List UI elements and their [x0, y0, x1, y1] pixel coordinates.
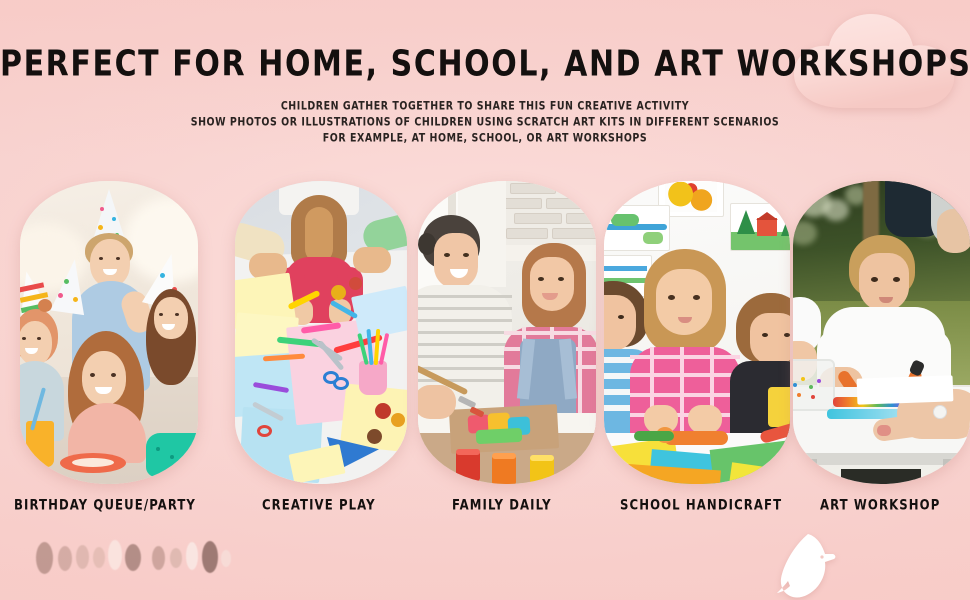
scenario-card-school-handicraft[interactable]: [604, 181, 790, 484]
scenario-card-creative-play[interactable]: [235, 181, 407, 484]
photo-school-handicraft: [604, 181, 790, 484]
caption-birthday: BIRTHDAY QUEUE/PARTY: [14, 497, 196, 514]
promo-banner: PERFECT FOR HOME, SCHOOL, AND ART WORKSH…: [0, 0, 970, 600]
scenario-card-birthday[interactable]: [20, 181, 198, 484]
subtitle-line-3: FOR EXAMPLE, AT HOME, SCHOOL, OR ART WOR…: [0, 129, 970, 147]
heading-block: PERFECT FOR HOME, SCHOOL, AND ART WORKSH…: [0, 46, 970, 78]
page-title: PERFECT FOR HOME, SCHOOL, AND ART WORKSH…: [0, 46, 970, 83]
caption-school-handicraft: SCHOOL HANDICRAFT: [620, 497, 782, 514]
dove-icon: [770, 530, 842, 600]
photo-birthday-party: [20, 181, 198, 484]
photo-creative-play: [235, 181, 407, 484]
caption-family-daily: FAMILY DAILY: [452, 497, 552, 514]
caption-creative-play: CREATIVE PLAY: [262, 497, 376, 514]
subtitle-block: CHILDREN GATHER TOGETHER TO SHARE THIS F…: [0, 98, 970, 146]
scenario-card-family-daily[interactable]: [418, 181, 596, 484]
scenario-card-row: [0, 181, 970, 484]
scenario-card-art-workshop[interactable]: [793, 181, 970, 484]
crayon-dots-decoration: [34, 538, 234, 580]
photo-family-daily: [418, 181, 596, 484]
photo-art-workshop: [793, 181, 970, 484]
caption-art-workshop: ART WORKSHOP: [820, 497, 940, 514]
